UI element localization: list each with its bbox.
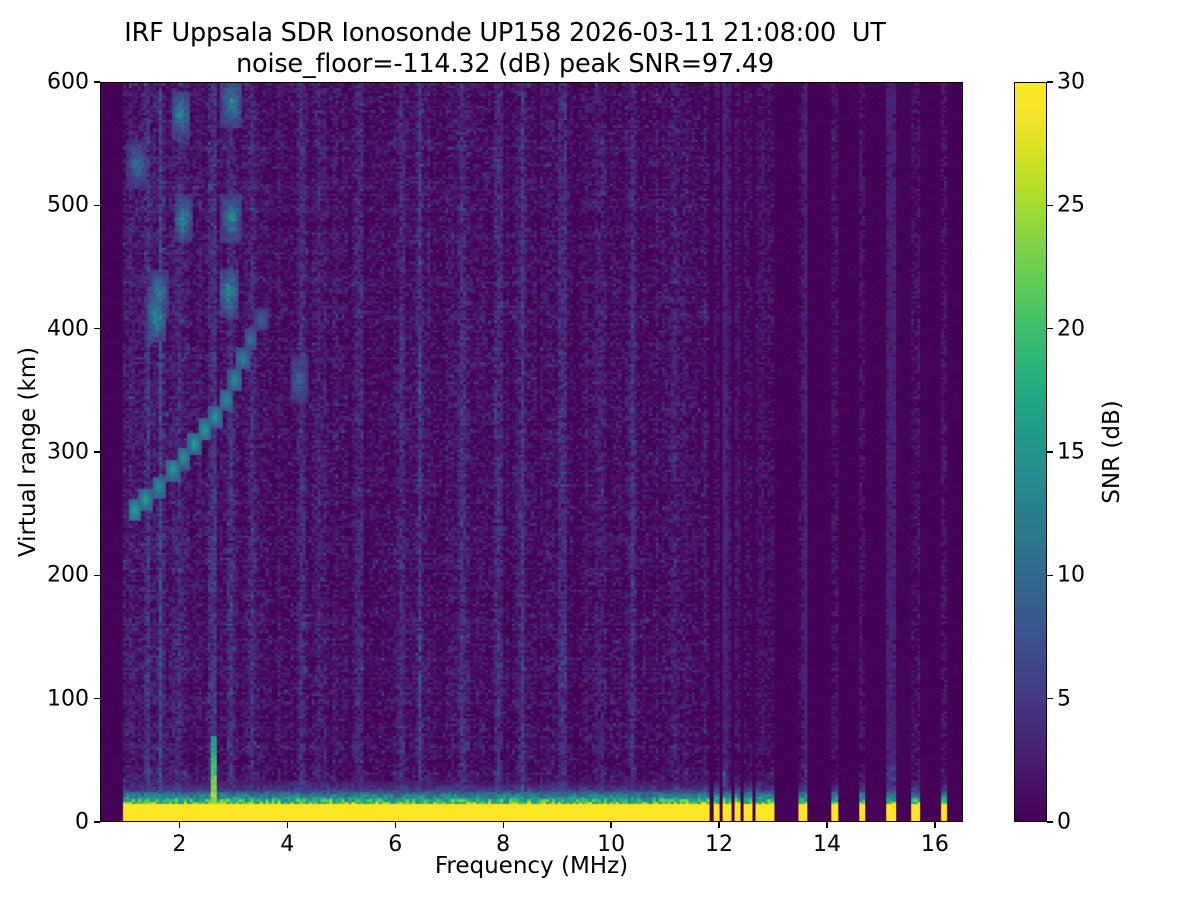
x-axis-label: Frequency (MHz) (100, 853, 963, 879)
x-tick-mark (179, 822, 180, 828)
x-tick-mark (503, 822, 504, 828)
ionogram-figure: IRF Uppsala SDR Ionosonde UP158 2026-03-… (0, 0, 1200, 900)
colorbar-tick-mark (1047, 821, 1053, 822)
colorbar-tick-label: 10 (1057, 563, 1085, 588)
colorbar-tick-mark (1047, 698, 1053, 699)
x-tick-mark (610, 822, 611, 828)
title-line-1: IRF Uppsala SDR Ionosonde UP158 2026-03-… (0, 18, 1010, 49)
y-tick-mark (94, 205, 100, 206)
y-tick-label: 600 (47, 70, 89, 95)
x-tick-mark (287, 822, 288, 828)
y-tick-mark (94, 575, 100, 576)
y-tick-mark (94, 698, 100, 699)
colorbar-tick-mark (1047, 575, 1053, 576)
x-tick-mark (934, 822, 935, 828)
y-tick-label: 100 (47, 686, 89, 711)
x-tick-mark (826, 822, 827, 828)
colorbar-tick-label: 20 (1057, 316, 1085, 341)
y-tick-label: 300 (47, 440, 89, 465)
colorbar-tick-label: 0 (1057, 810, 1071, 835)
colorbar-tick-mark (1047, 205, 1053, 206)
y-tick-mark (94, 821, 100, 822)
y-axis-label-text: Virtual range (km) (15, 347, 41, 557)
y-tick-label: 500 (47, 193, 89, 218)
colorbar-tick-mark (1047, 81, 1053, 82)
colorbar-tick-label: 15 (1057, 440, 1085, 465)
colorbar (1014, 82, 1047, 822)
x-tick-mark (395, 822, 396, 828)
ionogram-plot-area[interactable] (100, 82, 963, 822)
x-tick-mark (718, 822, 719, 828)
colorbar-tick-mark (1047, 328, 1053, 329)
colorbar-tick-label: 30 (1057, 70, 1085, 95)
colorbar-tick-label: 5 (1057, 686, 1071, 711)
colorbar-label-text: SNR (dB) (1099, 400, 1125, 503)
colorbar-tick-mark (1047, 451, 1053, 452)
figure-title: IRF Uppsala SDR Ionosonde UP158 2026-03-… (0, 18, 1010, 80)
ionogram-heatmap (101, 83, 962, 821)
colorbar-gradient (1015, 83, 1046, 821)
y-tick-label: 0 (75, 810, 89, 835)
colorbar-tick-label: 25 (1057, 193, 1085, 218)
y-tick-mark (94, 81, 100, 82)
title-line-2: noise_floor=-114.32 (dB) peak SNR=97.49 (0, 49, 1010, 80)
y-tick-mark (94, 328, 100, 329)
y-tick-label: 400 (47, 316, 89, 341)
y-tick-label: 200 (47, 563, 89, 588)
y-tick-mark (94, 451, 100, 452)
